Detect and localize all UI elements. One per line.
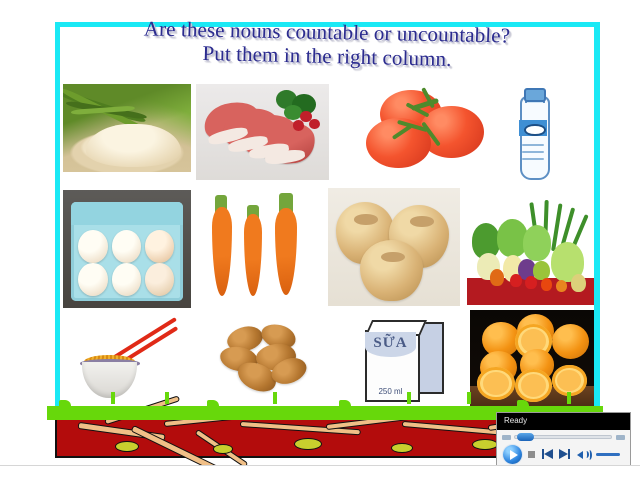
slide-frame-right [594, 22, 600, 410]
water-bottle-image[interactable] [500, 82, 566, 182]
meat-photo [196, 84, 329, 180]
slideshow-screen: Are these nouns countable or uncountable… [0, 0, 640, 480]
noodles-photo [70, 312, 190, 408]
carrots-photo [200, 188, 310, 308]
page-bottom-edge [0, 465, 640, 480]
potatoes-image[interactable] [214, 318, 320, 404]
onions-photo [328, 188, 460, 306]
media-player-panel[interactable]: Ready [497, 413, 630, 465]
onions-image[interactable] [328, 188, 460, 306]
previous-button[interactable] [542, 449, 553, 459]
vegetables-photo [467, 200, 594, 305]
seek-forward-icon[interactable] [616, 435, 625, 440]
tomatoes-image[interactable] [355, 80, 495, 180]
rice-photo [63, 84, 191, 172]
play-button[interactable] [503, 445, 522, 464]
milk-brand-text: SỮA [366, 335, 414, 352]
oranges-image[interactable] [470, 310, 594, 408]
seek-rewind-icon[interactable] [502, 435, 511, 440]
stop-button[interactable] [528, 451, 535, 458]
eggs-photo [63, 190, 191, 308]
next-button[interactable] [559, 449, 570, 459]
potatoes-photo [214, 318, 320, 404]
slide-frame-top [55, 22, 600, 27]
seek-thumb[interactable] [517, 433, 534, 441]
player-status-text: Ready [504, 416, 527, 425]
carrots-image[interactable] [200, 188, 310, 308]
vegetables-image[interactable] [467, 200, 594, 305]
noodles-image[interactable] [70, 312, 190, 408]
slide-frame-left [55, 22, 60, 410]
eggs-image[interactable] [63, 190, 191, 308]
water-bottle-drawing [500, 82, 566, 182]
meat-image[interactable] [196, 84, 329, 180]
volume-icon[interactable] [577, 449, 590, 460]
seek-bar-row[interactable] [497, 430, 630, 444]
tomatoes-photo [355, 80, 495, 180]
play-icon [510, 450, 518, 460]
volume-slider[interactable] [596, 453, 620, 456]
rice-image[interactable] [63, 84, 191, 172]
player-controls[interactable] [497, 444, 630, 465]
oranges-photo [470, 310, 594, 408]
